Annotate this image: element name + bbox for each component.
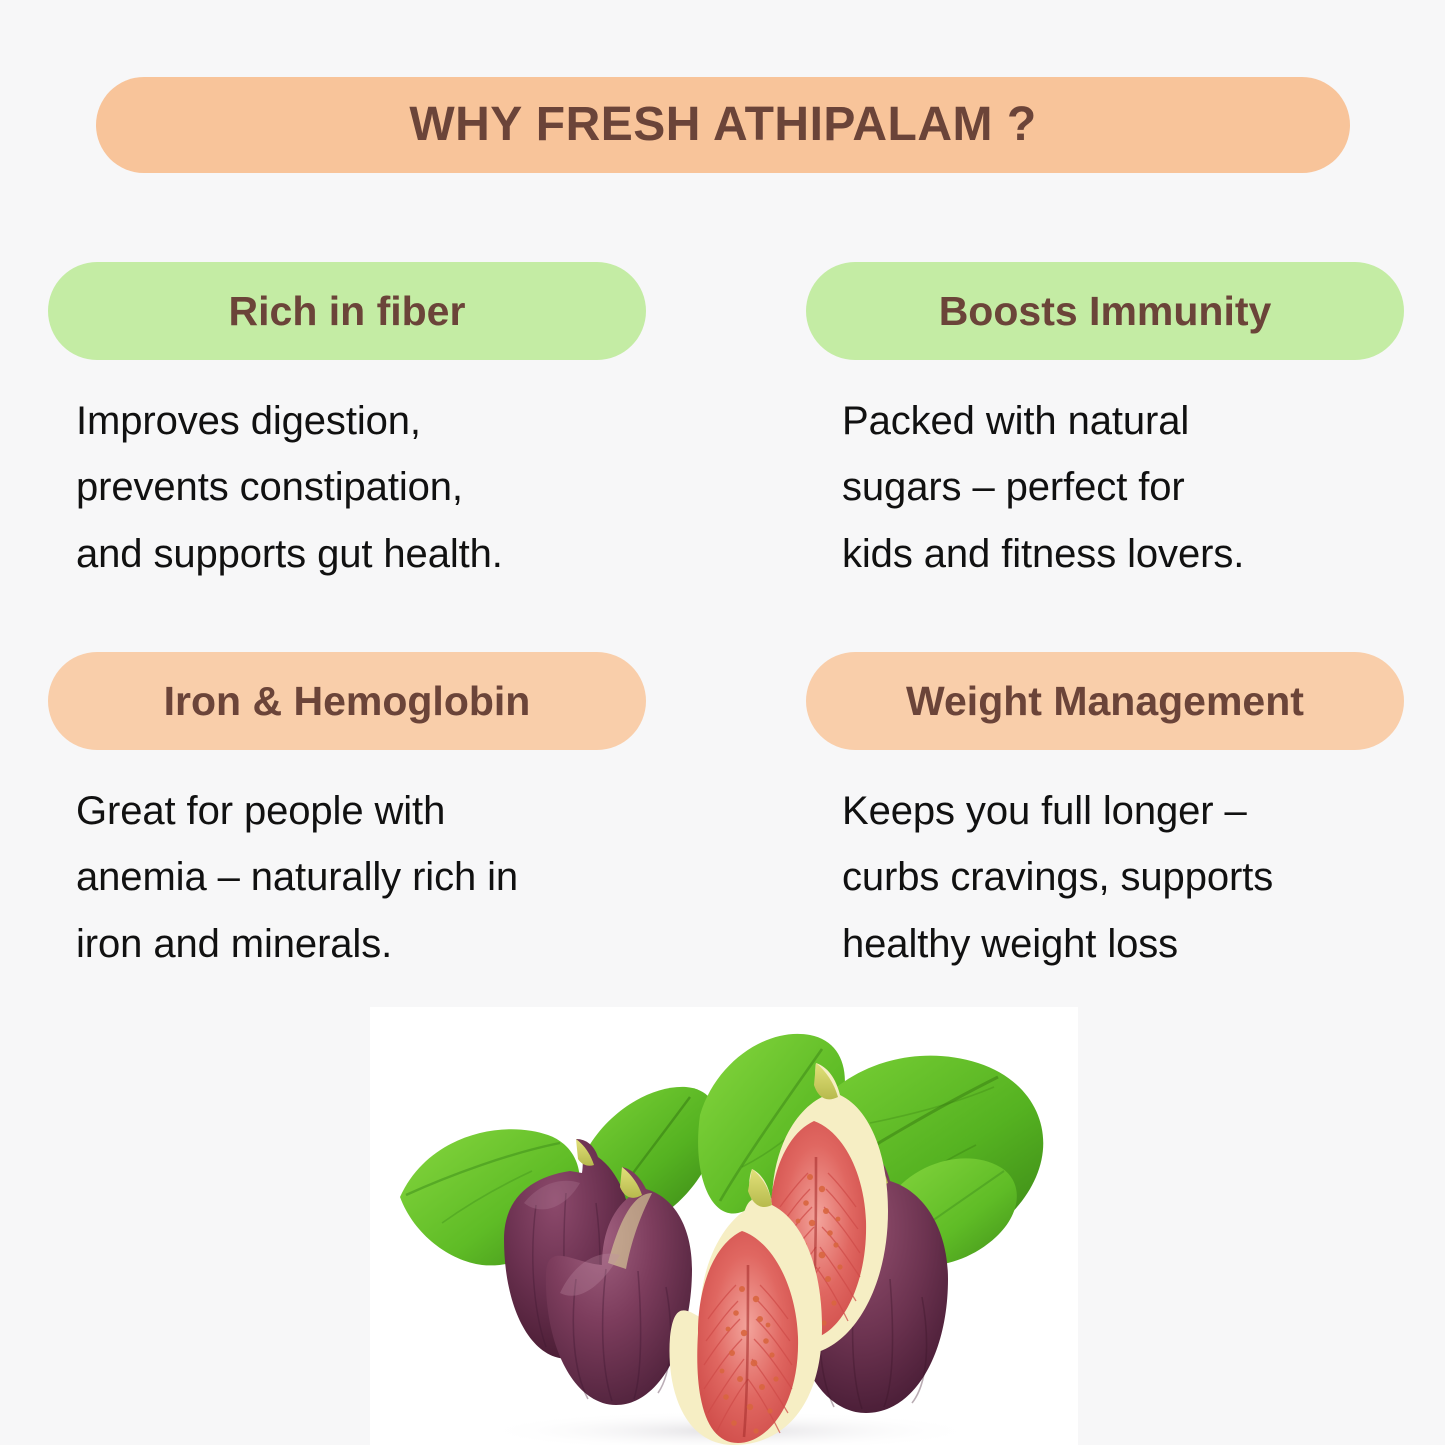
feature-card-weight-management: Weight Management Keeps you full longer … <box>806 652 1404 977</box>
feature-card-boosts-immunity: Boosts Immunity Packed with natural suga… <box>806 262 1404 587</box>
feature-body-text: Great for people with anemia – naturally… <box>48 778 646 977</box>
feature-heading-pill-iron-and-hemoglobin: Iron & Hemoglobin <box>48 652 646 750</box>
feature-card-iron-and-hemoglobin: Iron & Hemoglobin Great for people with … <box>48 652 646 977</box>
infographic-page: WHY FRESH ATHIPALAM ? Rich in fiber Impr… <box>0 0 1445 1445</box>
fresh-figs-photo <box>370 1007 1078 1445</box>
feature-card-rich-in-fiber: Rich in fiber Improves digestion, preven… <box>48 262 646 587</box>
feature-heading-label: Boosts Immunity <box>939 291 1272 332</box>
feature-body-text: Packed with natural sugars – perfect for… <box>806 388 1404 587</box>
feature-heading-label: Weight Management <box>906 681 1304 722</box>
feature-heading-pill-weight-management: Weight Management <box>806 652 1404 750</box>
feature-heading-pill-rich-in-fiber: Rich in fiber <box>48 262 646 360</box>
fig-illustration <box>370 1007 1078 1445</box>
feature-heading-label: Rich in fiber <box>229 291 466 332</box>
feature-heading-label: Iron & Hemoglobin <box>164 681 531 722</box>
feature-heading-pill-boosts-immunity: Boosts Immunity <box>806 262 1404 360</box>
feature-body-text: Improves digestion, prevents constipatio… <box>48 388 646 587</box>
feature-body-text: Keeps you full longer – curbs cravings, … <box>806 778 1404 977</box>
feature-grid: Rich in fiber Improves digestion, preven… <box>0 0 1445 1000</box>
